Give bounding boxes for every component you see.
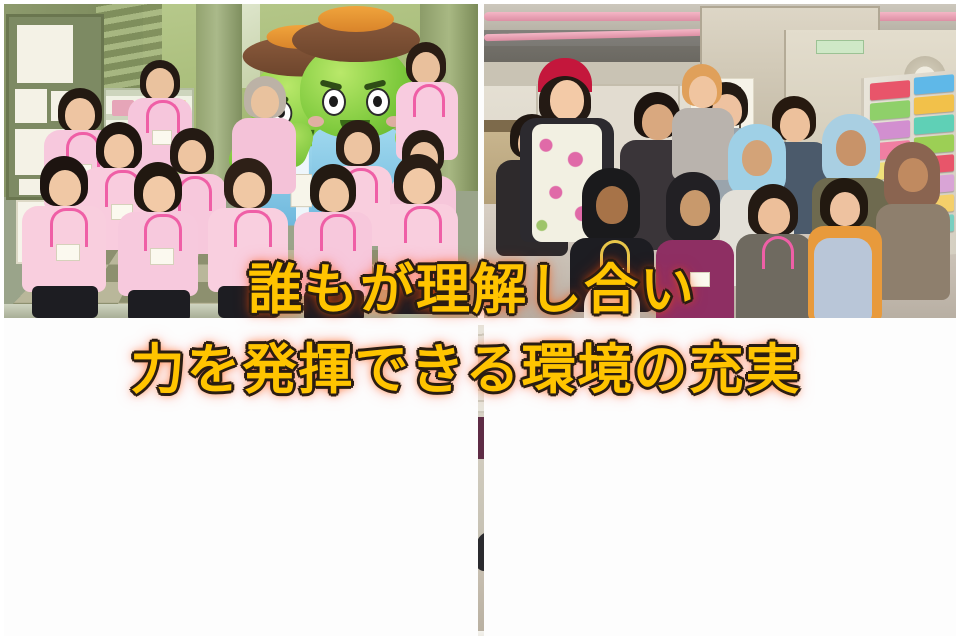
white-skirt xyxy=(584,282,640,318)
mascot-hat xyxy=(292,18,420,62)
lanyard xyxy=(413,84,445,117)
face xyxy=(403,168,435,204)
photo-reception-mascots: 受付 xyxy=(0,0,478,318)
lanyard xyxy=(320,214,356,251)
grid-gap-vertical-right xyxy=(0,318,478,325)
poster-root: 受付 xyxy=(0,0,960,640)
photo-international-exchange xyxy=(484,0,960,318)
notice-poster xyxy=(17,25,73,83)
face xyxy=(49,170,81,206)
brochure xyxy=(914,114,954,134)
face xyxy=(319,178,349,212)
notice-poster xyxy=(15,89,47,123)
face xyxy=(143,176,175,212)
face xyxy=(898,158,928,192)
face xyxy=(680,190,710,226)
brochure xyxy=(870,80,910,100)
light-overall xyxy=(814,238,872,318)
name-badge xyxy=(690,272,710,287)
face xyxy=(836,130,866,166)
face xyxy=(596,186,628,224)
name-badge xyxy=(150,248,174,265)
name-badge xyxy=(56,244,80,261)
lanyard xyxy=(404,206,442,243)
name-badge xyxy=(604,268,624,283)
face xyxy=(758,198,790,234)
face xyxy=(104,134,134,168)
face xyxy=(830,192,860,226)
ceiling-panels xyxy=(478,325,484,417)
room-floor xyxy=(478,563,484,640)
face xyxy=(742,140,772,176)
face xyxy=(178,140,206,172)
photo-collage-grid: 受付 xyxy=(0,0,960,640)
face xyxy=(642,104,674,140)
lanyard xyxy=(178,176,212,211)
face xyxy=(65,98,95,132)
mascot-eye xyxy=(322,88,346,116)
wall-accent xyxy=(478,417,484,459)
lanyard xyxy=(144,214,182,251)
name-badge xyxy=(152,130,172,145)
black-trousers xyxy=(388,284,450,314)
grid-gap-horizontal-right xyxy=(0,325,478,640)
black-trousers xyxy=(304,290,364,318)
black-trousers xyxy=(128,290,190,318)
face xyxy=(233,172,265,208)
lanyard xyxy=(146,100,180,133)
lanyard xyxy=(50,208,88,247)
face xyxy=(146,68,174,100)
mascot-cheek xyxy=(308,116,324,127)
brochure xyxy=(870,100,910,120)
lanyard xyxy=(762,236,794,269)
face xyxy=(689,76,717,108)
face xyxy=(780,108,810,142)
black-trousers xyxy=(218,286,280,318)
face xyxy=(412,52,440,84)
grid-gap-center xyxy=(484,318,960,325)
mascot-eye xyxy=(366,88,390,116)
face xyxy=(550,80,584,120)
face xyxy=(344,132,372,164)
exit-sign xyxy=(816,40,864,54)
coat xyxy=(876,204,950,300)
lanyard xyxy=(234,210,272,247)
jacket xyxy=(478,531,484,571)
face xyxy=(251,86,279,118)
black-trousers xyxy=(32,286,98,318)
grid-gap-vertical-bottom xyxy=(484,325,960,640)
photo-salvia-seminar: 福崎町サルビアセミナー 最近の事例（2） 悪質商法 xyxy=(478,325,484,640)
brochure xyxy=(914,74,954,94)
light-top xyxy=(672,108,734,180)
attendee-desk xyxy=(478,631,484,640)
brochure xyxy=(914,94,954,114)
